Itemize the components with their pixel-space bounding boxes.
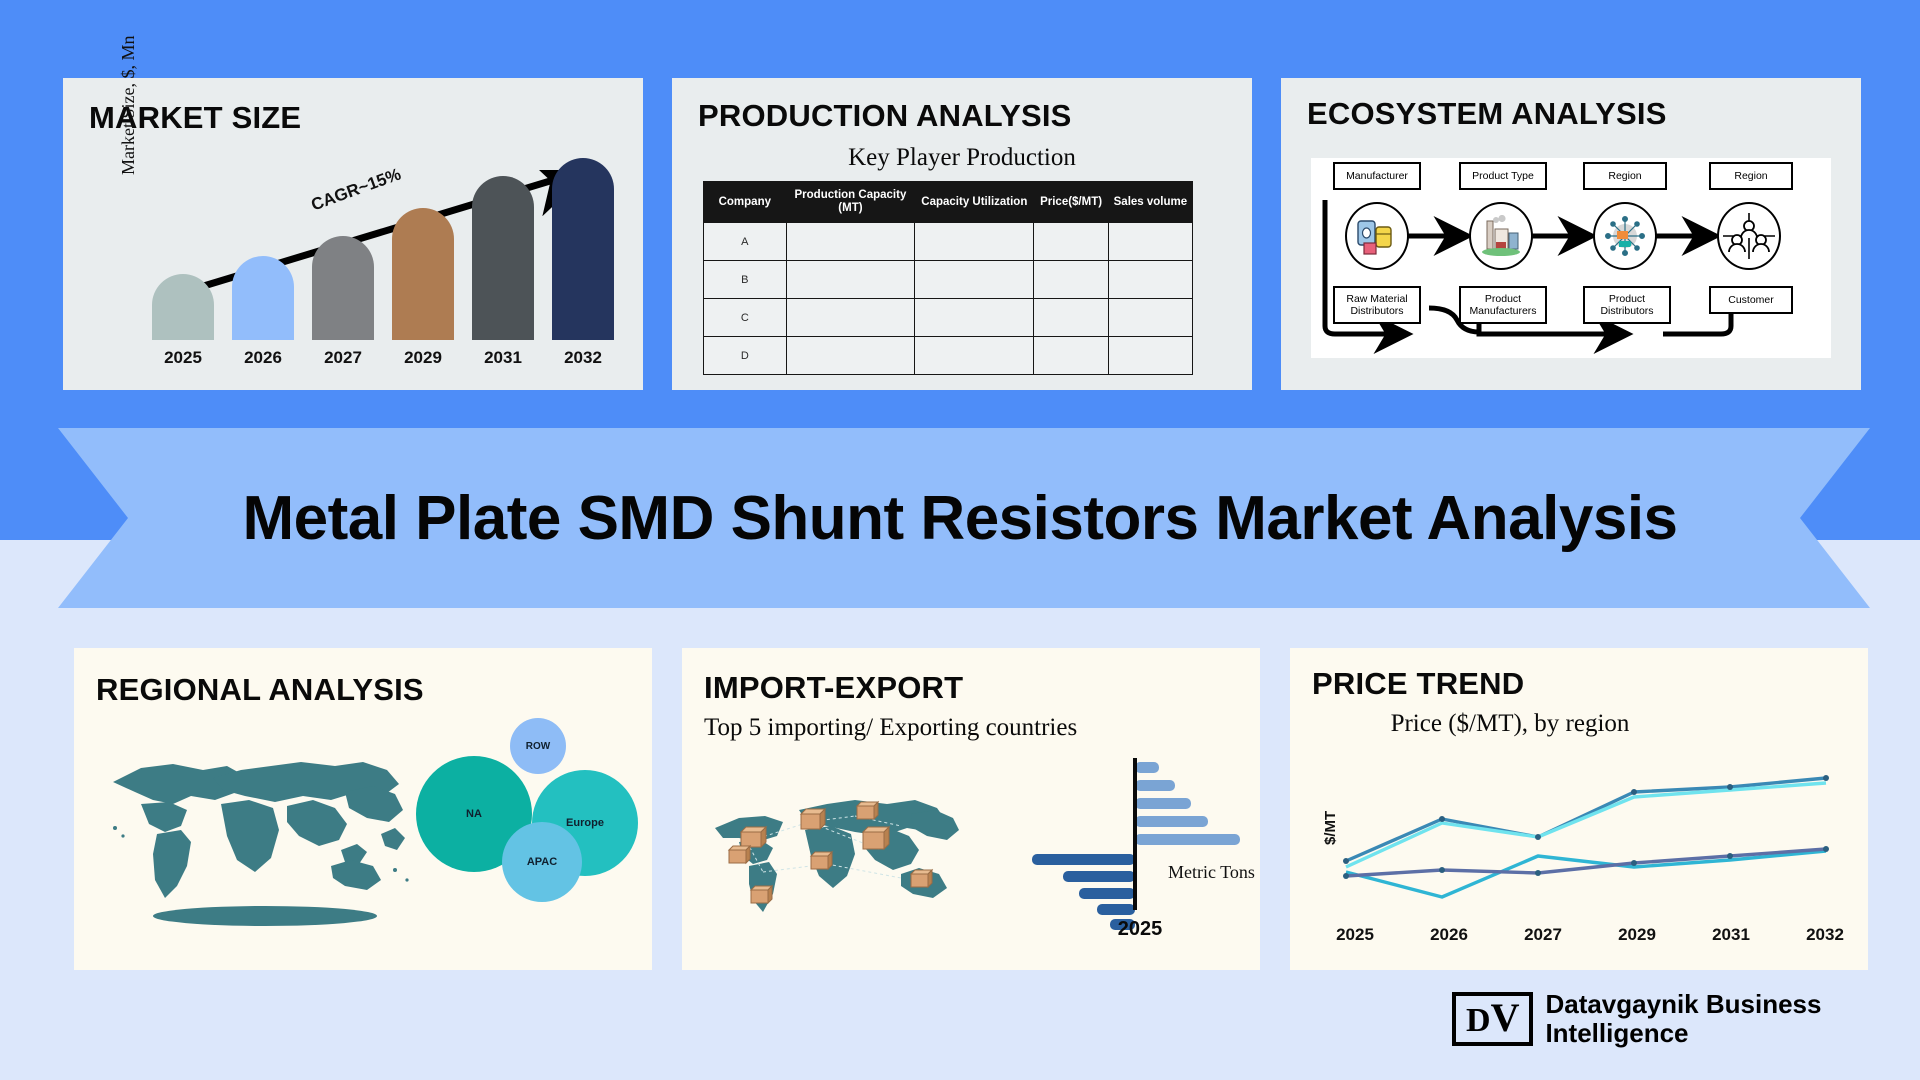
ecosystem-flow-diagram: Manufacturer Product Type Region Region …: [1311, 158, 1831, 358]
world-shipping-map-icon: [705, 780, 980, 930]
page-title: Metal Plate SMD Shunt Resistors Market A…: [0, 428, 1920, 608]
world-map-icon: [95, 730, 435, 930]
cell-company: B: [704, 261, 787, 299]
logo-letter-d: D: [1466, 1002, 1491, 1039]
brand-logo: DV Datavgaynik Business Intelligence: [1452, 990, 1821, 1048]
bubble-label-na: NA: [466, 808, 482, 820]
cell-utilization: [915, 337, 1034, 375]
bar-2031: [472, 176, 534, 340]
eco-box-product-distributors: Product Distributors: [1583, 286, 1671, 324]
cell-price: [1034, 261, 1108, 299]
infographic-root: MARKET SIZE Market Size, $, Mn 2025 2026…: [0, 0, 1920, 1080]
bar-2026: [232, 256, 294, 340]
market-size-y-axis-label: Market Size, $, Mn: [118, 36, 139, 175]
production-subtitle: Key Player Production: [672, 144, 1252, 172]
bubble-apac: APAC: [502, 822, 582, 902]
export-bar-1: [1032, 854, 1135, 865]
import-bar-4: [1135, 816, 1208, 827]
bar-label-2031: 2031: [472, 348, 534, 368]
cell-sales: [1108, 261, 1192, 299]
cell-sales: [1108, 299, 1192, 337]
col-header-capacity-utilization: Capacity Utilization: [915, 182, 1034, 223]
eco-box-region-2: Region: [1709, 162, 1793, 190]
bar-2032: [552, 158, 614, 340]
cell-company: D: [704, 337, 787, 375]
price-year-2031: 2031: [1696, 925, 1766, 945]
logo-letter-v: V: [1491, 995, 1520, 1040]
logo-wordmark: Datavgaynik Business Intelligence: [1545, 990, 1821, 1048]
import-export-title: IMPORT-EXPORT: [704, 670, 963, 706]
cell-capacity: [786, 299, 915, 337]
factory-icon: [1469, 202, 1533, 270]
eco-box-product-manufacturers: Product Manufacturers: [1459, 286, 1547, 324]
import-export-subtitle: Top 5 importing/ Exporting countries: [704, 714, 1204, 742]
eco-box-customer: Customer: [1709, 286, 1793, 314]
cell-sales: [1108, 337, 1192, 375]
table-header-row: Company Production Capacity (MT) Capacit…: [704, 182, 1193, 223]
cell-company: A: [704, 223, 787, 261]
table-row: C: [704, 299, 1193, 337]
market-size-bar-group: 2025: [152, 274, 214, 340]
import-export-unit-label: Metric Tons: [1168, 862, 1255, 883]
table-row: D: [704, 337, 1193, 375]
logo-mark-dv: DV: [1452, 992, 1533, 1046]
bar-2025: [152, 274, 214, 340]
export-bar-4: [1097, 904, 1135, 915]
cell-utilization: [915, 261, 1034, 299]
table-row: B: [704, 261, 1193, 299]
cell-company: C: [704, 299, 787, 337]
import-export-year-label: 2025: [1100, 918, 1180, 941]
distribution-network-icon: [1593, 202, 1657, 270]
ecosystem-title: ECOSYSTEM ANALYSIS: [1307, 96, 1667, 132]
cell-capacity: [786, 337, 915, 375]
market-size-bar-group: 2026: [232, 256, 294, 340]
cell-price: [1034, 299, 1108, 337]
eco-box-product-type: Product Type: [1459, 162, 1547, 190]
price-year-2027: 2027: [1508, 925, 1578, 945]
eco-box-region-1: Region: [1583, 162, 1667, 190]
export-bar-3: [1079, 888, 1135, 899]
cell-sales: [1108, 223, 1192, 261]
col-header-price: Price($/MT): [1034, 182, 1108, 223]
eco-box-manufacturer: Manufacturer: [1333, 162, 1421, 190]
customers-icon: [1717, 202, 1781, 270]
import-bar-3: [1135, 798, 1191, 809]
price-year-2032: 2032: [1790, 925, 1860, 945]
col-header-sales-volume: Sales volume: [1108, 182, 1192, 223]
import-export-axis-line: [1133, 758, 1137, 910]
logo-line-1: Datavgaynik Business: [1545, 990, 1821, 1019]
market-size-bar-group: 2031: [472, 176, 534, 340]
bar-label-2032: 2032: [552, 348, 614, 368]
col-header-production-capacity: Production Capacity (MT): [786, 182, 915, 223]
barrels-icon: [1345, 202, 1409, 270]
import-bar-5: [1135, 834, 1240, 845]
bar-2027: [312, 236, 374, 340]
bubble-row: ROW: [510, 718, 566, 774]
bubble-label-europe: Europe: [566, 817, 604, 829]
export-bar-2: [1063, 871, 1135, 882]
col-header-company: Company: [704, 182, 787, 223]
price-trend-subtitle: Price ($/MT), by region: [1350, 708, 1670, 739]
bubble-label-apac: APAC: [527, 856, 557, 868]
price-trend-title: PRICE TREND: [1312, 666, 1524, 702]
cell-utilization: [915, 223, 1034, 261]
cell-price: [1034, 337, 1108, 375]
production-title: PRODUCTION ANALYSIS: [698, 98, 1072, 134]
table-row: A: [704, 223, 1193, 261]
bar-2029: [392, 208, 454, 340]
cell-capacity: [786, 223, 915, 261]
price-trend-line-chart: [1318, 745, 1838, 905]
cell-price: [1034, 223, 1108, 261]
price-year-2025: 2025: [1320, 925, 1390, 945]
price-year-2026: 2026: [1414, 925, 1484, 945]
bar-label-2026: 2026: [232, 348, 294, 368]
cell-capacity: [786, 261, 915, 299]
market-size-bar-group: 2029: [392, 208, 454, 340]
growth-arrow-icon: [140, 170, 610, 370]
eco-box-raw-material-distributors: Raw Material Distributors: [1333, 286, 1421, 324]
key-player-production-table: Company Production Capacity (MT) Capacit…: [703, 181, 1193, 375]
logo-line-2: Intelligence: [1545, 1019, 1821, 1048]
market-size-bar-chart: 2025 2026 2027 2029 2031 2032: [140, 170, 610, 370]
bar-label-2027: 2027: [312, 348, 374, 368]
bar-label-2025: 2025: [152, 348, 214, 368]
import-bar-1: [1135, 762, 1159, 773]
price-year-2029: 2029: [1602, 925, 1672, 945]
cell-utilization: [915, 299, 1034, 337]
market-size-bar-group: 2032: [552, 158, 614, 340]
bubble-label-row: ROW: [526, 741, 550, 752]
market-size-bar-group: 2027: [312, 236, 374, 340]
regional-title: REGIONAL ANALYSIS: [96, 672, 424, 708]
import-bar-2: [1135, 780, 1175, 791]
bar-label-2029: 2029: [392, 348, 454, 368]
